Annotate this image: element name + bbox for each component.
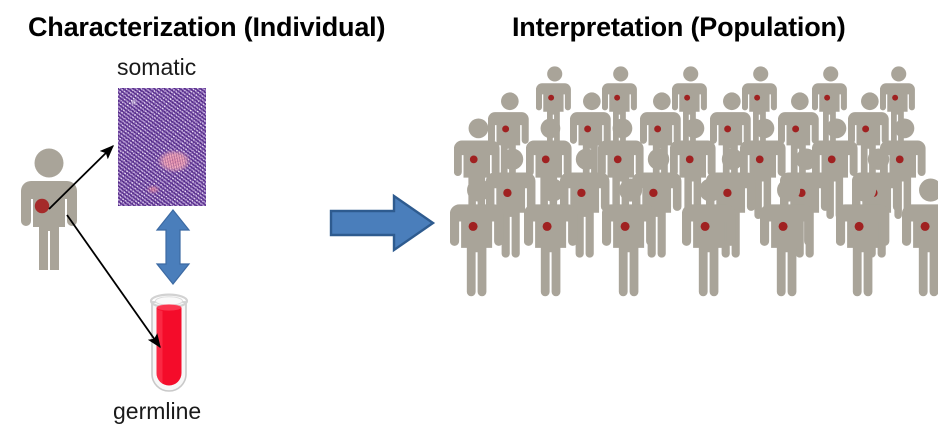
somatic-label: somatic (117, 54, 196, 81)
crowd-person-svg (836, 178, 893, 301)
population-crowd-icon (440, 66, 938, 276)
variant-dot-icon (470, 156, 478, 164)
variant-dot-icon (654, 126, 661, 133)
page-title-characterization: Characterization (Individual) (28, 12, 385, 43)
crowd-person-icon (902, 178, 938, 301)
person-icon-svg (12, 148, 86, 270)
person-icon (12, 148, 86, 270)
variant-dot-icon (614, 95, 620, 101)
crowd-person-icon (760, 178, 817, 301)
crowd-person-icon (602, 178, 659, 301)
variant-dot-icon (684, 95, 690, 101)
variant-dot-icon (892, 95, 898, 101)
variant-dot-icon (502, 126, 509, 133)
variant-dot-icon (469, 222, 478, 231)
variant-dot-icon (584, 126, 591, 133)
variant-dot-icon (862, 126, 869, 133)
variant-dot-icon (548, 95, 554, 101)
crowd-person-svg (602, 178, 659, 301)
right-arrow-icon (328, 192, 436, 254)
variant-dot-icon (621, 222, 630, 231)
variant-dot-icon (792, 126, 799, 133)
variant-dot-icon (543, 222, 552, 231)
vertical-double-arrow-icon (153, 208, 193, 286)
transition-arrow-svg (328, 192, 436, 254)
crowd-person-icon (524, 178, 581, 301)
germline-label: germline (113, 398, 201, 425)
double-arrow-svg (153, 208, 193, 286)
test-tube-svg (138, 288, 200, 396)
histology-slide-image (118, 88, 206, 206)
crowd-person-icon (836, 178, 893, 301)
page-title-interpretation: Interpretation (Population) (512, 12, 846, 43)
diagram-canvas: Characterization (Individual) Interpreta… (0, 0, 938, 436)
crowd-person-svg (450, 178, 507, 301)
crowd-person-svg (760, 178, 817, 301)
variant-dot-icon (824, 95, 830, 101)
crowd-person-icon (450, 178, 507, 301)
variant-dot-icon (542, 156, 550, 164)
crowd-person-svg (524, 178, 581, 301)
crowd-person-svg (902, 178, 938, 301)
variant-dot-icon (754, 95, 760, 101)
variant-dot-icon (779, 222, 788, 231)
crowd-person-svg (682, 178, 739, 301)
variant-dot-icon (35, 199, 49, 213)
variant-dot-icon (855, 222, 864, 231)
blood-test-tube-icon (138, 288, 200, 396)
variant-dot-icon (686, 156, 694, 164)
variant-dot-icon (614, 156, 622, 164)
variant-dot-icon (701, 222, 710, 231)
variant-dot-icon (724, 126, 731, 133)
variant-dot-icon (921, 222, 930, 231)
crowd-person-icon (682, 178, 739, 301)
